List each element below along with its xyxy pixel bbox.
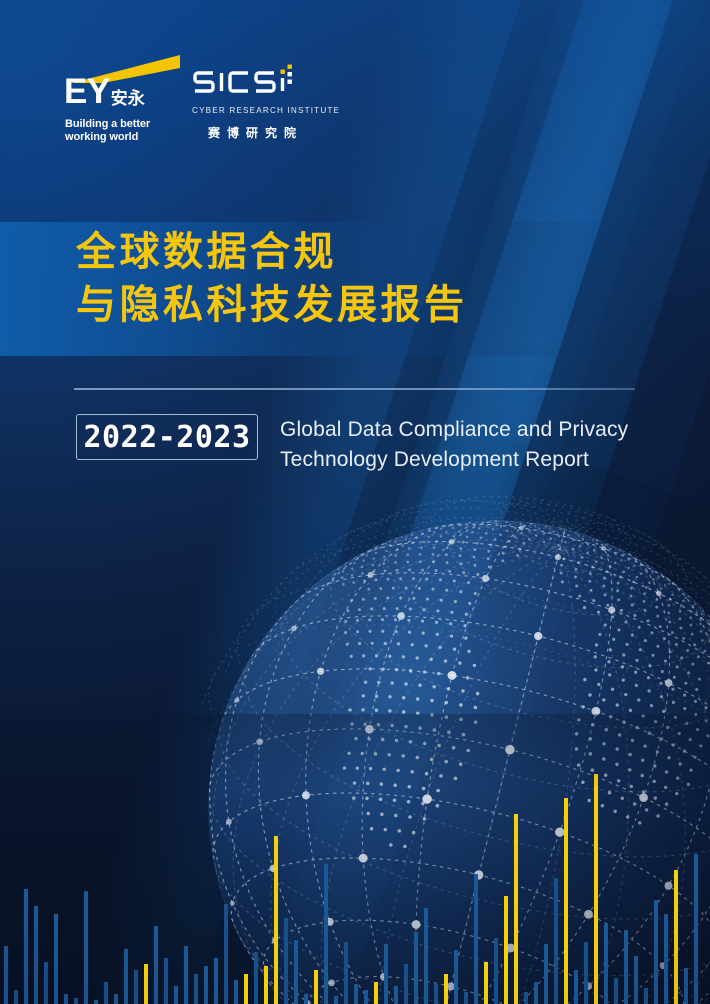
- bar-15: [144, 964, 148, 1004]
- bar-33: [324, 864, 328, 1004]
- ey-logo: EY 安永 Building a better working world: [64, 48, 184, 152]
- bar-69: [684, 968, 688, 1004]
- bar-39: [384, 944, 388, 1004]
- bar-8: [74, 998, 78, 1004]
- bar-28: [274, 836, 278, 1004]
- bar-29: [284, 918, 288, 1004]
- bar-55: [544, 944, 548, 1004]
- bar-17: [164, 958, 168, 1004]
- bar-64: [634, 956, 638, 1004]
- bar-9: [84, 891, 88, 1004]
- bar-37: [364, 990, 368, 1004]
- bar-60: [594, 774, 598, 1004]
- bar-27: [264, 966, 268, 1004]
- bar-36: [354, 984, 358, 1004]
- bar-12: [114, 994, 118, 1004]
- logo-row: EY 安永 Building a better working world: [0, 48, 710, 156]
- bar-24: [234, 980, 238, 1004]
- bar-56: [554, 878, 558, 1004]
- sicsi-chinese-name: 赛博研究院: [192, 124, 342, 141]
- bar-52: [514, 814, 518, 1004]
- sicsi-wordmark: [192, 64, 316, 100]
- bar-61: [604, 924, 608, 1004]
- bar-6: [54, 914, 58, 1004]
- ey-tagline-line2: working world: [65, 131, 150, 144]
- bar-18: [174, 986, 178, 1004]
- bar-62: [614, 978, 618, 1004]
- bar-20: [194, 974, 198, 1004]
- bar-13: [124, 949, 128, 1004]
- bar-59: [584, 942, 588, 1004]
- bar-66: [654, 900, 658, 1004]
- bar-67: [664, 914, 668, 1004]
- bar-40: [394, 986, 398, 1004]
- bar-50: [494, 938, 498, 1004]
- bar-19: [184, 946, 188, 1004]
- bar-7: [64, 994, 68, 1004]
- bar-49: [484, 962, 488, 1004]
- bar-44: [434, 984, 438, 1004]
- bar-31: [304, 994, 308, 1004]
- bar-34: [334, 996, 338, 1004]
- bar-51: [504, 896, 508, 1004]
- bar-46: [454, 950, 458, 1004]
- bar-70: [694, 854, 698, 1004]
- bar-2: [14, 990, 18, 1004]
- bar-chart-skyline-icon: [0, 714, 710, 1004]
- bar-54: [534, 982, 538, 1004]
- bar-47: [464, 992, 468, 1004]
- bar-41: [404, 964, 408, 1004]
- bar-25: [244, 974, 248, 1004]
- english-subtitle-line1: Global Data Compliance and Privacy: [280, 415, 628, 445]
- bar-14: [134, 970, 138, 1004]
- bar-4: [34, 906, 38, 1004]
- ey-tagline-line1: Building a better: [65, 118, 150, 131]
- bar-65: [644, 988, 648, 1004]
- bar-42: [414, 932, 418, 1004]
- year-badge: 2022-2023: [76, 414, 258, 460]
- bar-35: [344, 942, 348, 1004]
- ey-wordmark-row: EY 安永: [64, 74, 145, 109]
- bar-1: [4, 946, 8, 1004]
- bar-68: [674, 870, 678, 1004]
- bar-43: [424, 908, 428, 1004]
- bar-58: [574, 970, 578, 1004]
- ey-tagline: Building a better working world: [65, 118, 150, 143]
- report-cover: EY 安永 Building a better working world: [0, 0, 710, 1004]
- bar-63: [624, 930, 628, 1004]
- sicsi-logo: CYBER RESEARCH INSTITUTE 赛博研究院: [192, 64, 342, 156]
- subtitle-row: 2022-2023 Global Data Compliance and Pri…: [76, 414, 628, 475]
- bar-57: [564, 798, 568, 1004]
- bar-23: [224, 904, 228, 1004]
- ey-wordmark: EY: [64, 74, 110, 109]
- bar-10: [94, 1000, 98, 1004]
- bar-38: [374, 982, 378, 1004]
- bar-26: [254, 952, 258, 1004]
- page-title-line2: 与隐私科技发展报告: [76, 279, 636, 332]
- bar-45: [444, 974, 448, 1004]
- bar-16: [154, 926, 158, 1004]
- bar-21: [204, 966, 208, 1004]
- sicsi-subtitle: CYBER RESEARCH INSTITUTE: [192, 106, 342, 115]
- page-title: 全球数据合规 与隐私科技发展报告: [76, 226, 636, 332]
- english-subtitle-line2: Technology Development Report: [280, 445, 628, 475]
- bar-30: [294, 940, 298, 1004]
- bar-11: [104, 982, 108, 1004]
- ey-chinese-name: 安永: [111, 91, 145, 108]
- english-subtitle: Global Data Compliance and Privacy Techn…: [280, 415, 628, 475]
- bar-53: [524, 992, 528, 1004]
- bar-3: [24, 889, 28, 1004]
- bar-48: [474, 874, 478, 1004]
- page-title-line1: 全球数据合规: [76, 226, 636, 279]
- bar-5: [44, 962, 48, 1004]
- bar-32: [314, 970, 318, 1004]
- bar-22: [214, 958, 218, 1004]
- title-divider: [74, 388, 635, 390]
